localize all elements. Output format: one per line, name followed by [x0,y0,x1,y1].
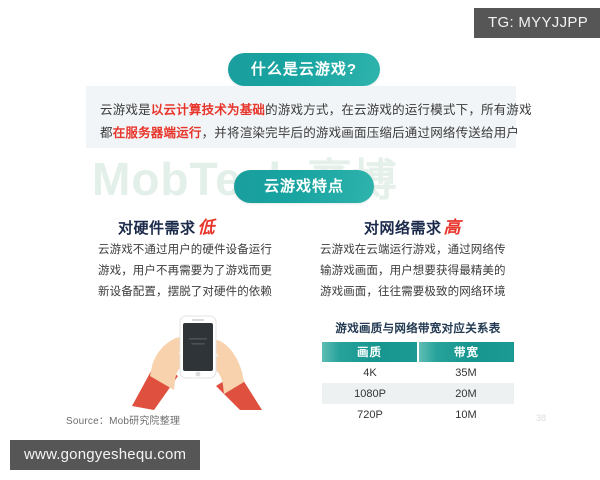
left-column-body: 云游戏不通过用户的硬件设备运行 游戏，用户不再需要为了游戏而更 新设备配置，摆脱… [98,240,296,303]
definition-panel: 云游戏是以云计算技术为基础的游戏方式，在云游戏的运行模式下，所有游戏 都在服务器… [86,86,516,148]
quality-bandwidth-table: 画质 带宽 4K 35M 1080P 20M 720P 10M [322,342,514,425]
table-cell-bandwidth: 35M [418,362,514,383]
section-title-definition: 什么是云游戏? [228,53,380,86]
table-cell-quality: 1080P [322,383,418,404]
right-body-line: 输游戏画面，用户想要获得最精美的 [320,261,518,282]
right-heading-accent: 高 [444,218,462,237]
table-row: 1080P 20M [322,383,514,404]
right-heading-text: 对网络需求 [364,220,442,237]
tg-badge: TG: MYYJJPP [474,8,600,38]
table-cell-bandwidth: 10M [418,404,514,425]
right-body-line: 云游戏在云端运行游戏，通过网络传 [320,240,518,261]
phone-screen-icon [183,323,213,371]
quality-bandwidth-table-wrapper: 游戏画质与网络带宽对应关系表 画质 带宽 4K 35M 1080P 20M 72… [322,320,514,425]
definition-line1-highlight: 以云计算技术为基础 [151,103,265,117]
definition-line1-prefix: 云游戏是 [100,103,151,117]
table-cell-quality: 720P [322,404,418,425]
table-cell-bandwidth: 20M [418,383,514,404]
table-header-quality: 画质 [322,342,418,362]
right-body-line: 游戏画面，往往需要极致的网络环境 [320,282,518,303]
right-column-heading: 对网络需求高 [364,213,461,238]
left-heading-accent: 低 [198,218,216,237]
section-title-features: 云游戏特点 [234,170,374,203]
definition-line2-suffix: ，并将渲染完毕后的游戏画面压缩后通过网络传送给用户 [202,126,520,140]
table-title: 游戏画质与网络带宽对应关系表 [322,320,514,336]
table-row: 4K 35M [322,362,514,383]
table-header-row: 画质 带宽 [322,342,514,362]
left-column-heading: 对硬件需求低 [118,213,215,238]
left-body-line: 新设备配置，摆脱了对硬件的依赖 [98,282,296,303]
phone-screen-text-icon [191,343,205,345]
definition-line-2: 都在服务器端运行，并将渲染完毕后的游戏画面压缩后通过网络传送给用户 [100,122,519,141]
table-row: 720P 10M [322,404,514,425]
phone-screen-text-icon [189,338,207,340]
definition-line2-highlight: 在服务器端运行 [113,126,202,140]
left-heading-text: 对硬件需求 [118,220,196,237]
table-cell-quality: 4K [322,362,418,383]
left-body-line: 云游戏不通过用户的硬件设备运行 [98,240,296,261]
page-number: 38 [536,413,546,423]
right-column-body: 云游戏在云端运行游戏，通过网络传 输游戏画面，用户想要获得最精美的 游戏画面，往… [320,240,518,303]
table-header-bandwidth: 带宽 [418,342,514,362]
hands-holding-smartphone-illustration [112,306,288,410]
definition-line1-suffix: 的游戏方式，在云游戏的运行模式下，所有游戏 [265,103,532,117]
source-note: Source：Mob研究院整理 [66,412,180,427]
left-body-line: 游戏，用户不再需要为了游戏而更 [98,261,296,282]
url-watermark-bar: www.gongyeshequ.com [10,440,200,470]
phone-home-button-icon [196,372,201,377]
slide-canvas: MobTech袤博 TG: MYYJJPP 什么是云游戏? 云游戏是以云计算技术… [0,0,600,480]
definition-line2-prefix: 都 [100,126,113,140]
definition-line-1: 云游戏是以云计算技术为基础的游戏方式，在云游戏的运行模式下，所有游戏 [100,99,532,118]
phone-speaker-icon [192,319,204,321]
